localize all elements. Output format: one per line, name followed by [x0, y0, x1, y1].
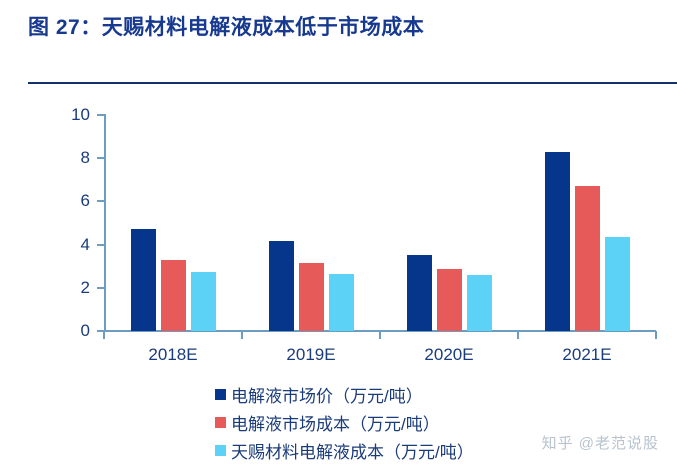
x-axis-tick-label: 2021E — [532, 345, 642, 365]
bar — [131, 229, 156, 331]
x-axis-tick — [517, 331, 519, 339]
bar — [407, 255, 432, 331]
bar — [329, 274, 354, 331]
y-axis-tick-label: 6 — [52, 192, 90, 209]
y-axis-tick — [97, 157, 105, 159]
bar — [437, 269, 462, 331]
x-axis-tick — [241, 331, 243, 339]
bar — [161, 260, 186, 331]
legend-label: 天赐材料电解液成本（万元/吨） — [231, 438, 474, 463]
bar — [605, 237, 630, 331]
legend-item[interactable]: 电解液市场成本（万元/吨） — [215, 408, 474, 436]
y-axis-tick — [97, 200, 105, 202]
y-axis-tick — [97, 244, 105, 246]
y-axis-tick-label: 2 — [52, 279, 90, 296]
y-axis-tick-label: 8 — [52, 149, 90, 166]
legend-label: 电解液市场价（万元/吨） — [231, 382, 423, 407]
y-axis-tick-label: 10 — [52, 106, 90, 123]
watermark: 知乎 @老范说股 — [542, 432, 659, 453]
bar — [191, 272, 216, 331]
x-axis-tick — [379, 331, 381, 339]
legend-swatch-icon — [215, 389, 226, 400]
y-axis-tick-label: 0 — [52, 322, 90, 339]
x-axis-tick-label: 2020E — [394, 345, 504, 365]
x-axis-tick-label: 2019E — [256, 345, 366, 365]
legend-swatch-icon — [215, 417, 226, 428]
y-axis-tick — [97, 114, 105, 116]
y-axis-tick — [97, 287, 105, 289]
legend-item[interactable]: 天赐材料电解液成本（万元/吨） — [215, 436, 474, 464]
y-axis-line — [104, 114, 106, 332]
legend-swatch-icon — [215, 445, 226, 456]
bar — [545, 152, 570, 331]
x-axis-tick — [655, 331, 657, 339]
legend-item[interactable]: 电解液市场价（万元/吨） — [215, 380, 474, 408]
legend-label: 电解液市场成本（万元/吨） — [231, 410, 440, 435]
chart-legend: 电解液市场价（万元/吨）电解液市场成本（万元/吨）天赐材料电解液成本（万元/吨） — [215, 380, 474, 464]
bar — [575, 186, 600, 331]
bar — [269, 241, 294, 331]
x-axis-tick-label: 2018E — [118, 345, 228, 365]
x-axis-tick — [103, 331, 105, 339]
y-axis-tick-label: 4 — [52, 236, 90, 253]
bar — [299, 263, 324, 331]
bar — [467, 275, 492, 331]
